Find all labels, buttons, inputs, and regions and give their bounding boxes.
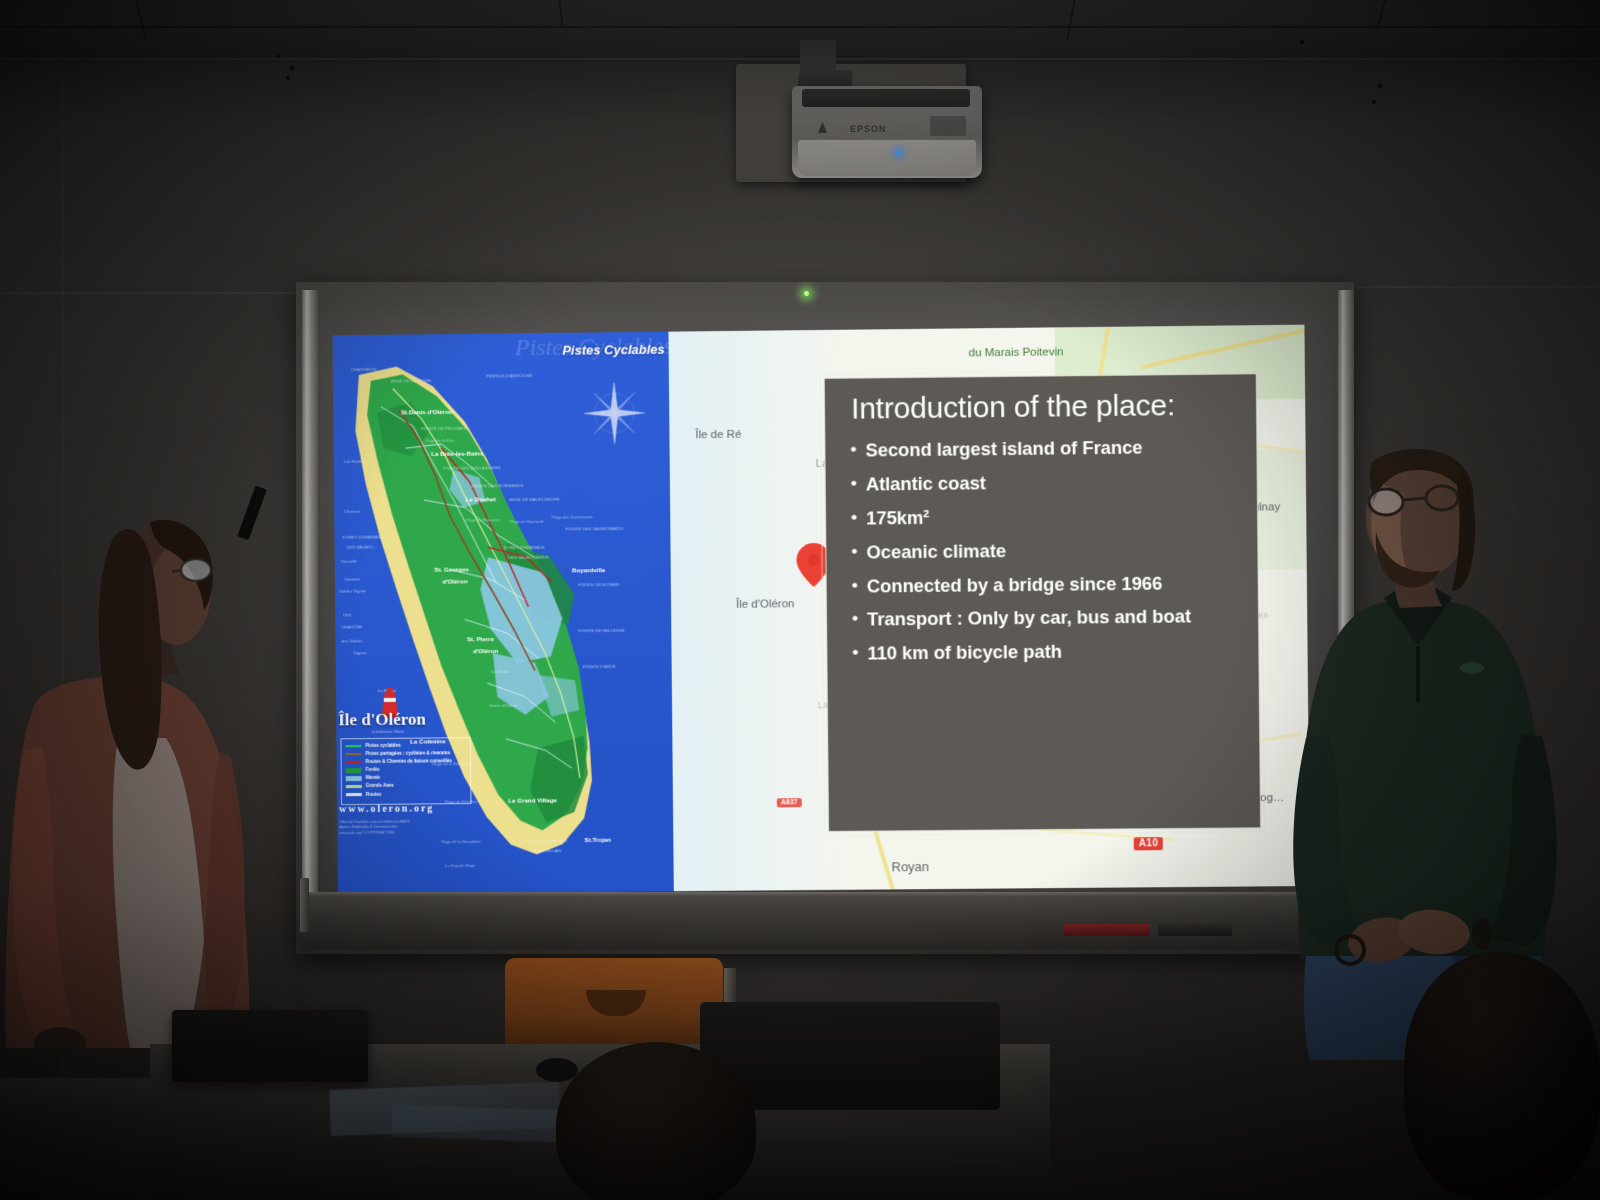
bullet-item: 110 km of bicycle path: [867, 639, 1244, 665]
bullet-item: Connected by a bridge since 1966: [867, 571, 1244, 598]
oleron-logo: Île d'Oléron la lumineuse Oléron: [342, 685, 462, 738]
svg-text:FORET DOMANIALE: FORET DOMANIALE: [527, 838, 568, 843]
svg-text:Les Huttes: Les Huttes: [344, 459, 364, 464]
legend-label: Routes: [366, 791, 382, 797]
svg-text:POINTE DES SAUMONARDS: POINTE DES SAUMONARDS: [566, 526, 624, 532]
projector-icon: [818, 122, 827, 133]
svg-text:LES: LES: [343, 612, 351, 617]
svg-text:Plage des Saumonards: Plage des Saumonards: [551, 514, 592, 519]
svg-text:La Brée-les-Bains: La Brée-les-Bains: [431, 450, 484, 458]
svg-text:St.Trojan: St.Trojan: [584, 837, 611, 844]
website-url: www.oleron.org: [339, 803, 434, 815]
svg-text:La Cheve: La Cheve: [491, 669, 510, 674]
svg-text:ANSE DE LA FOSSE: ANSE DE LA FOSSE: [391, 378, 432, 383]
legend-swatch: [346, 761, 362, 764]
map-label-ile-doleron: Île d'Oléron: [736, 598, 795, 611]
svg-text:POINTE DES BOULASSIERS: POINTE DES BOULASSIERS: [443, 465, 500, 471]
ceiling-grid-line: [559, 0, 564, 26]
svg-text:St. Pierre: St. Pierre: [467, 636, 495, 643]
tray-post-left: [300, 878, 309, 932]
bullet-item: Transport : Only by car, bus and boat: [867, 605, 1244, 632]
slide-textbox: Introduction of the place: Second larges…: [824, 373, 1261, 832]
wall-seam: [1356, 286, 1600, 288]
legend-label: Pistes partagées : cyclistes & riverains: [365, 750, 450, 756]
audience-head: [556, 1042, 756, 1200]
svg-text:Boyardville: Boyardville: [572, 567, 606, 574]
black-marker[interactable]: [1158, 924, 1232, 936]
svg-text:Plage de la Brée: Plage de la Brée: [425, 438, 455, 443]
svg-text:Sauzelle: Sauzelle: [341, 559, 358, 564]
projector-arm: [800, 40, 836, 74]
presenter-left: [0, 488, 300, 1048]
bullet-item: Atlantic coast: [866, 469, 1243, 496]
legend-item: Routes & Chemins de liaison conseillés: [346, 758, 468, 765]
svg-text:Domino: Domino: [345, 576, 360, 581]
svg-text:POINTE DE PROUARD: POINTE DE PROUARD: [421, 426, 467, 431]
projector: EPSON: [792, 86, 982, 178]
svg-text:Le Douhet: Le Douhet: [466, 496, 496, 503]
svg-text:Plage de Plaisance: Plage de Plaisance: [466, 517, 501, 522]
presenter-right: [1276, 440, 1600, 1060]
map-label-park: du Marais Poitevin: [969, 345, 1064, 360]
bullet-item: 175km²: [866, 503, 1243, 530]
legend-item: Pistes partagées : cyclistes & riverains: [346, 750, 468, 757]
logo-subtitle: la lumineuse Oléron: [372, 730, 404, 734]
svg-text:CHASSIRON: CHASSIRON: [351, 367, 376, 372]
svg-text:d'Oléron: d'Oléron: [442, 578, 467, 585]
projector-brand-label: EPSON: [850, 124, 887, 134]
pistes-cyclables-map: Pistes Cyclables Pistes Cyclables: [333, 332, 674, 894]
svg-text:St.Denis d'Oléron: St.Denis d'Oléron: [401, 409, 453, 417]
slide-title: Introduction of the place:: [825, 374, 1256, 427]
wall-dot: [286, 76, 290, 80]
ceiling-grid-line: [135, 0, 147, 40]
svg-text:Plage de Gouraude: Plage de Gouraude: [510, 519, 545, 524]
legend-item: Routes: [346, 791, 468, 798]
legend-item: Pistes cyclables: [345, 742, 467, 749]
red-marker[interactable]: [1064, 924, 1150, 936]
map-credit: Office de Tourisme conçu et réalisé par …: [339, 820, 410, 836]
svg-text:Plage de la Giraudière: Plage de la Giraudière: [441, 839, 481, 844]
svg-text:DES SAUMO…: DES SAUMO…: [347, 544, 377, 549]
svg-text:ANSE DE MALECONCHE: ANSE DE MALECONCHE: [509, 497, 559, 503]
svg-text:Vignier: Vignier: [354, 650, 368, 655]
legend-label: Forêts: [366, 767, 380, 773]
projector-base: [798, 140, 976, 176]
svg-text:DE ST.TROJAN: DE ST.TROJAN: [531, 848, 561, 853]
legend-swatch: [346, 768, 362, 773]
whiteboard-rail-left: [302, 290, 318, 930]
svg-text:des Sables: des Sables: [341, 638, 362, 643]
projector-vent: [930, 116, 966, 136]
svg-text:DES SAUMONARDS: DES SAUMONARDS: [508, 555, 549, 560]
legend-label: Grands Axes: [366, 783, 394, 789]
svg-text:d'Oléron: d'Oléron: [473, 648, 498, 655]
legend-swatch: [346, 753, 362, 756]
projector-top-panel: [802, 89, 970, 107]
logo-text: Île d'Oléron: [338, 710, 426, 731]
wall-dot: [1378, 84, 1382, 88]
svg-text:Le Grand Village: Le Grand Village: [508, 797, 557, 804]
legend-item: Forêts: [346, 766, 468, 773]
svg-text:POINTE DE BELLEVUE: POINTE DE BELLEVUE: [578, 628, 625, 633]
map-legend: Pistes cyclables Pistes partagées : cycl…: [340, 737, 471, 805]
power-led-icon: [896, 150, 901, 155]
legend-label: Pistes cyclables: [365, 743, 400, 749]
bullet-item: Oceanic climate: [866, 537, 1243, 564]
svg-text:FORET DOMANIALE: FORET DOMANIALE: [504, 545, 545, 550]
svg-text:FORET DOMANIALE: FORET DOMANIALE: [342, 534, 383, 539]
svg-text:Dolus d'Oléron: Dolus d'Oléron: [489, 703, 518, 708]
laser-pointer-dot: [804, 291, 809, 296]
motorway-badge-a10: A10: [1134, 837, 1163, 850]
wall-dot: [276, 54, 280, 58]
mouse-device[interactable]: [536, 1058, 578, 1082]
audience-head: [1404, 952, 1600, 1200]
motorway-badge: A837: [777, 798, 802, 807]
svg-text:CHAUCRE: CHAUCRE: [341, 624, 362, 629]
svg-text:La Grande Plage: La Grande Plage: [445, 863, 476, 868]
wall-dot: [1300, 40, 1304, 44]
bullet-item: Second largest island of France: [865, 435, 1242, 462]
svg-text:Chaucre: Chaucre: [344, 509, 361, 514]
wall-dot: [1372, 100, 1376, 104]
wall-dot: [290, 66, 294, 70]
whiteboard-tray[interactable]: [300, 896, 1350, 950]
legend-swatch: [346, 776, 362, 781]
laptop[interactable]: [172, 1010, 368, 1082]
ceiling-grid-line: [1066, 0, 1075, 40]
svg-text:POINTE DE BOYARD: POINTE DE BOYARD: [578, 582, 620, 587]
legend-item: Marais: [346, 774, 468, 781]
svg-text:Sables Vignier: Sables Vignier: [339, 588, 367, 593]
legend-label: Marais: [366, 775, 381, 781]
projected-slide: Pistes Cyclables Pistes Cyclables: [333, 325, 1310, 894]
legend-item: Grands Axes: [346, 783, 468, 790]
classroom-photo: EPSON Pistes Cyclables Pistes Cyclables: [0, 0, 1600, 1200]
map-label-royan: Royan: [891, 859, 929, 874]
legend-swatch: [346, 785, 362, 788]
svg-text:PERTUIS D'ANTIOCHE: PERTUIS D'ANTIOCHE: [486, 373, 532, 378]
svg-text:POINTE DES NORMANDS: POINTE DES NORMANDS: [471, 483, 523, 489]
legend-swatch: [345, 745, 361, 748]
map-label-ile-de-re: Île de Ré: [695, 429, 741, 441]
legend-label: Routes & Chemins de liaison conseillés: [366, 758, 452, 764]
svg-text:St. Georges: St. Georges: [434, 566, 469, 573]
ceiling-grid-line: [0, 26, 1600, 28]
legend-swatch: [346, 793, 362, 796]
svg-text:POINTE D'ARCE: POINTE D'ARCE: [583, 664, 616, 669]
slide-bullet-list: Second largest island of France Atlantic…: [825, 435, 1258, 666]
wall-seam: [0, 292, 300, 294]
